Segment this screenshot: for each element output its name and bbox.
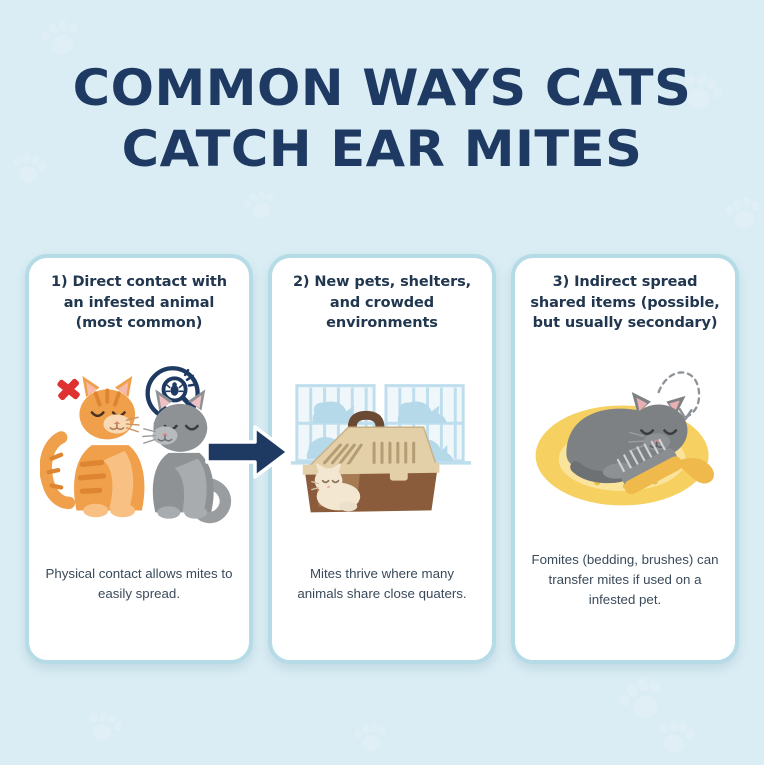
title-line-2: CATCH EAR MITES [0, 119, 764, 180]
card-2-heading: 2) New pets, shelters, and crowded envir… [283, 272, 481, 334]
title-line-1: COMMON WAYS CATS [0, 58, 764, 119]
card-3-illustration [526, 334, 724, 550]
cat-bed-brush-illustration [526, 356, 724, 528]
card-2-illustration [283, 334, 481, 564]
page-title: COMMON WAYS CATS CATCH EAR MITES [0, 0, 764, 180]
arrow-right-icon [205, 424, 291, 480]
card-crowded-environments[interactable]: 2) New pets, shelters, and crowded envir… [268, 254, 496, 664]
card-indirect-spread[interactable]: 3) Indirect spread shared items (possibl… [511, 254, 739, 664]
card-1-caption: Physical contact allows mites to easily … [40, 564, 238, 644]
pet-carrier-illustration [283, 365, 481, 533]
card-3-caption: Fomites (bedding, brushes) can transfer … [526, 550, 724, 644]
connector-arrow-1-to-2 [205, 424, 291, 480]
cards-row: 1) Direct contact with an infested anima… [0, 254, 764, 664]
card-1-heading: 1) Direct contact with an infested anima… [40, 272, 238, 334]
card-2-caption: Mites thrive where many animals share cl… [283, 564, 481, 644]
card-3-heading: 3) Indirect spread shared items (possibl… [526, 272, 724, 334]
x-mark-icon [56, 377, 81, 401]
